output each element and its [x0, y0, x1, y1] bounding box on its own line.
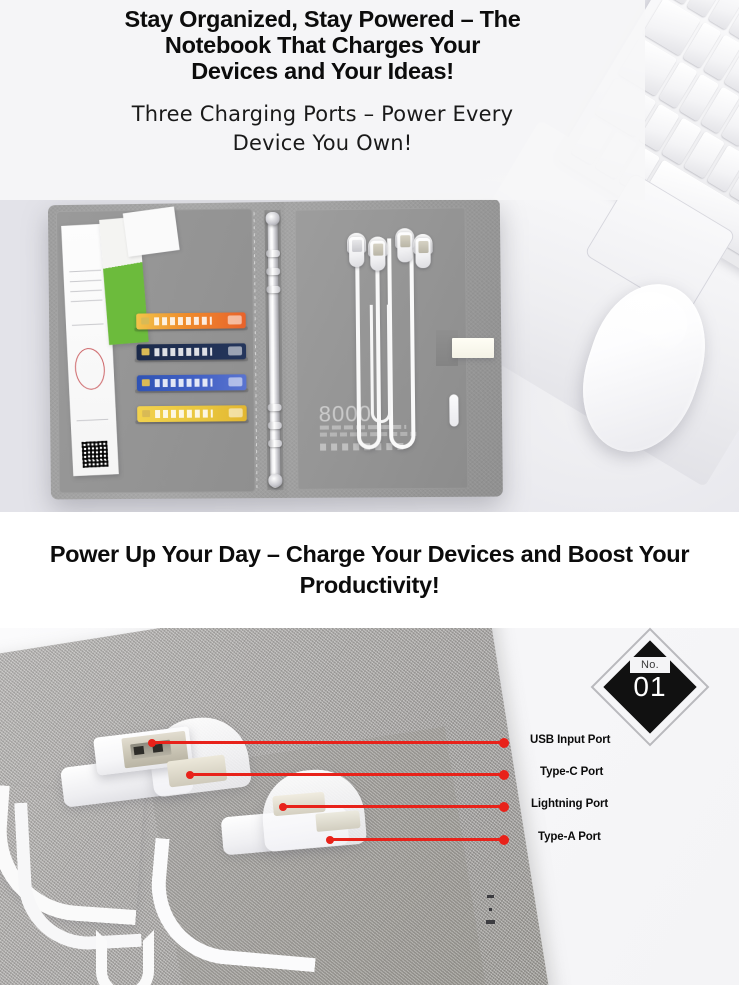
bank-card — [137, 374, 247, 391]
badge-prefix: No. — [641, 659, 659, 671]
hero-photo-section: 8000 — [0, 0, 739, 512]
callout-label-lightning: Lightning Port — [531, 798, 608, 810]
product-marketing-page: 8000 — [0, 0, 739, 985]
cable-clip — [449, 394, 458, 426]
open-notebook-product: 8000 — [48, 199, 503, 500]
bank-card — [136, 312, 246, 329]
artifact-mark — [487, 895, 494, 898]
callout-line-type-a — [330, 838, 505, 841]
step-number-badge: No. 01 — [608, 645, 692, 729]
micro-usb-plug-icon — [415, 238, 430, 268]
red-stamp — [73, 346, 107, 391]
cable-loop-end — [96, 930, 154, 985]
hero-text-overlay: Stay Organized, Stay Powered – The Noteb… — [0, 0, 645, 200]
callout-line-type-c — [190, 773, 505, 776]
type-c-plug-icon — [370, 241, 385, 271]
artifact-mark — [489, 908, 492, 911]
badge-number: 01 — [608, 671, 692, 703]
notebook-left-panel — [48, 202, 264, 499]
hero-subtitle: Three Charging Ports – Power Every Devic… — [98, 100, 548, 158]
usb-a-plug-icon — [349, 237, 364, 267]
section-headline-band: Power Up Your Day – Charge Your Devices … — [0, 512, 739, 628]
page-title: Stay Organized, Stay Powered – The Noteb… — [123, 6, 523, 84]
callout-label-usb-input: USB Input Port — [530, 734, 610, 746]
usb-input-plug — [452, 338, 494, 358]
cable-loop — [387, 238, 415, 449]
white-note-slip — [123, 206, 180, 256]
micro-usb-connector — [315, 810, 360, 832]
qr-code-icon — [82, 441, 109, 468]
lightning-plug-icon — [397, 232, 412, 262]
callout-label-type-a: Type-A Port — [538, 831, 601, 843]
callout-line-usb-input — [152, 741, 505, 744]
ring-binder-mechanism — [268, 212, 281, 488]
callout-label-type-c: Type-C Port — [540, 766, 603, 778]
bank-card — [136, 343, 246, 360]
section-headline: Power Up Your Day – Charge Your Devices … — [50, 539, 690, 601]
artifact-mark — [486, 920, 495, 924]
callout-line-lightning — [283, 805, 505, 808]
pocket-stitching — [254, 212, 258, 488]
cable-loop — [370, 305, 391, 424]
bank-card — [137, 405, 247, 422]
